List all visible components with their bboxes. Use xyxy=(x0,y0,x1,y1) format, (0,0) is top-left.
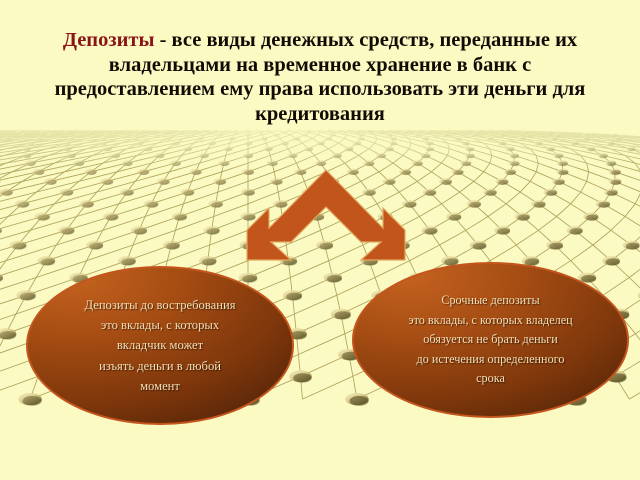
lattice-node-shade xyxy=(598,202,610,208)
lattice-node-shade xyxy=(425,190,436,196)
lattice-node-shade xyxy=(449,214,461,220)
lattice-node-shade xyxy=(87,170,97,175)
lattice-node-shade xyxy=(546,190,557,196)
oval-left-line-4: изъять деньги в любой xyxy=(99,356,221,376)
lattice-node-shade xyxy=(293,373,312,382)
title-keyword: Депозиты xyxy=(63,29,155,51)
lattice-node-shade xyxy=(607,190,618,196)
oval-right-line-4: до истечения определенного xyxy=(417,350,565,370)
lattice-node-shade xyxy=(41,258,55,265)
oval-right-line-2: это вклады, с которых владелец xyxy=(408,311,572,331)
lattice-node-shade xyxy=(147,202,159,208)
lattice-node-shade xyxy=(123,190,134,196)
oval-left-line-2: это вклады, с которых xyxy=(101,315,219,335)
split-arrow-down-icon xyxy=(243,166,409,266)
lattice-node-shade xyxy=(424,228,437,235)
lattice-node-shade xyxy=(626,243,640,250)
oval-left-line-1: Депозиты до востребования xyxy=(84,295,235,315)
lattice-node-shade xyxy=(327,275,342,283)
slide-canvas: Депозиты - все виды денежных средств, пе… xyxy=(0,0,640,480)
lattice-node-shade xyxy=(350,396,369,406)
lattice-node-shade xyxy=(62,190,73,196)
lattice-node-shade xyxy=(559,170,569,175)
split-arrow-svg xyxy=(243,166,409,266)
lattice-node-shade xyxy=(13,243,27,250)
lattice-node-shade xyxy=(207,228,220,235)
lattice-node-shade xyxy=(139,170,149,175)
lattice-node-shade xyxy=(159,180,169,185)
lattice-node-shade xyxy=(549,243,563,250)
oval-left-line-5: момент xyxy=(140,376,180,396)
lattice-node-shade xyxy=(216,180,226,185)
lattice-node-shade xyxy=(605,258,619,265)
lattice-node-shade xyxy=(454,170,464,175)
lattice-node-shade xyxy=(506,170,516,175)
lattice-node-shade xyxy=(497,228,510,235)
oval-right-line-1: Срочные депозиты xyxy=(441,291,539,311)
lattice-node-shade xyxy=(534,202,546,208)
lattice-node-shade xyxy=(61,228,74,235)
lattice-node-shade xyxy=(473,243,487,250)
lattice-node-shade xyxy=(242,275,257,283)
arrow-path xyxy=(247,170,405,260)
lattice-node-shade xyxy=(46,180,56,185)
lattice-node-shade xyxy=(20,293,36,301)
lattice-node-shade xyxy=(35,170,45,175)
lattice-node-shade xyxy=(611,180,621,185)
lattice-node-shade xyxy=(82,202,94,208)
lattice-node-shade xyxy=(211,202,223,208)
lattice-node-shade xyxy=(570,228,583,235)
lattice-node-shade xyxy=(517,214,529,220)
oval-right-line-3: обязуется не брать деньги xyxy=(423,330,558,350)
page-title: Депозиты - все виды денежных средств, пе… xyxy=(28,28,612,126)
lattice-node-shade xyxy=(2,190,13,196)
concept-oval-term-deposits[interactable]: Срочные депозиты это вклады, с которых в… xyxy=(352,262,629,418)
oval-left-line-3: вкладчик может xyxy=(117,335,203,355)
lattice-node-shade xyxy=(486,190,497,196)
lattice-node-shade xyxy=(23,396,42,406)
lattice-node-shade xyxy=(18,202,30,208)
lattice-node-shade xyxy=(134,228,147,235)
concept-oval-demand-deposits[interactable]: Депозиты до востребования это вклады, с … xyxy=(26,266,294,425)
lattice-node-shade xyxy=(175,214,187,220)
lattice-node-shade xyxy=(202,258,216,265)
lattice-node-shade xyxy=(103,180,113,185)
lattice-node-shade xyxy=(441,180,451,185)
lattice-node-shade xyxy=(334,311,351,319)
lattice-node-shade xyxy=(611,170,621,175)
lattice-node-shade xyxy=(192,170,202,175)
lattice-node-shade xyxy=(37,214,49,220)
lattice-node-shade xyxy=(166,243,180,250)
lattice-node-shade xyxy=(554,180,564,185)
lattice-node-shade xyxy=(469,202,481,208)
oval-right-line-5: срока xyxy=(476,369,505,389)
lattice-node-shade xyxy=(121,258,135,265)
lattice-node-shade xyxy=(498,180,508,185)
lattice-node-shade xyxy=(0,331,16,340)
lattice-node-shade xyxy=(286,293,302,301)
lattice-node-shade xyxy=(586,214,598,220)
lattice-node-shade xyxy=(106,214,118,220)
lattice-node-shade xyxy=(89,243,103,250)
lattice-node-shade xyxy=(183,190,194,196)
